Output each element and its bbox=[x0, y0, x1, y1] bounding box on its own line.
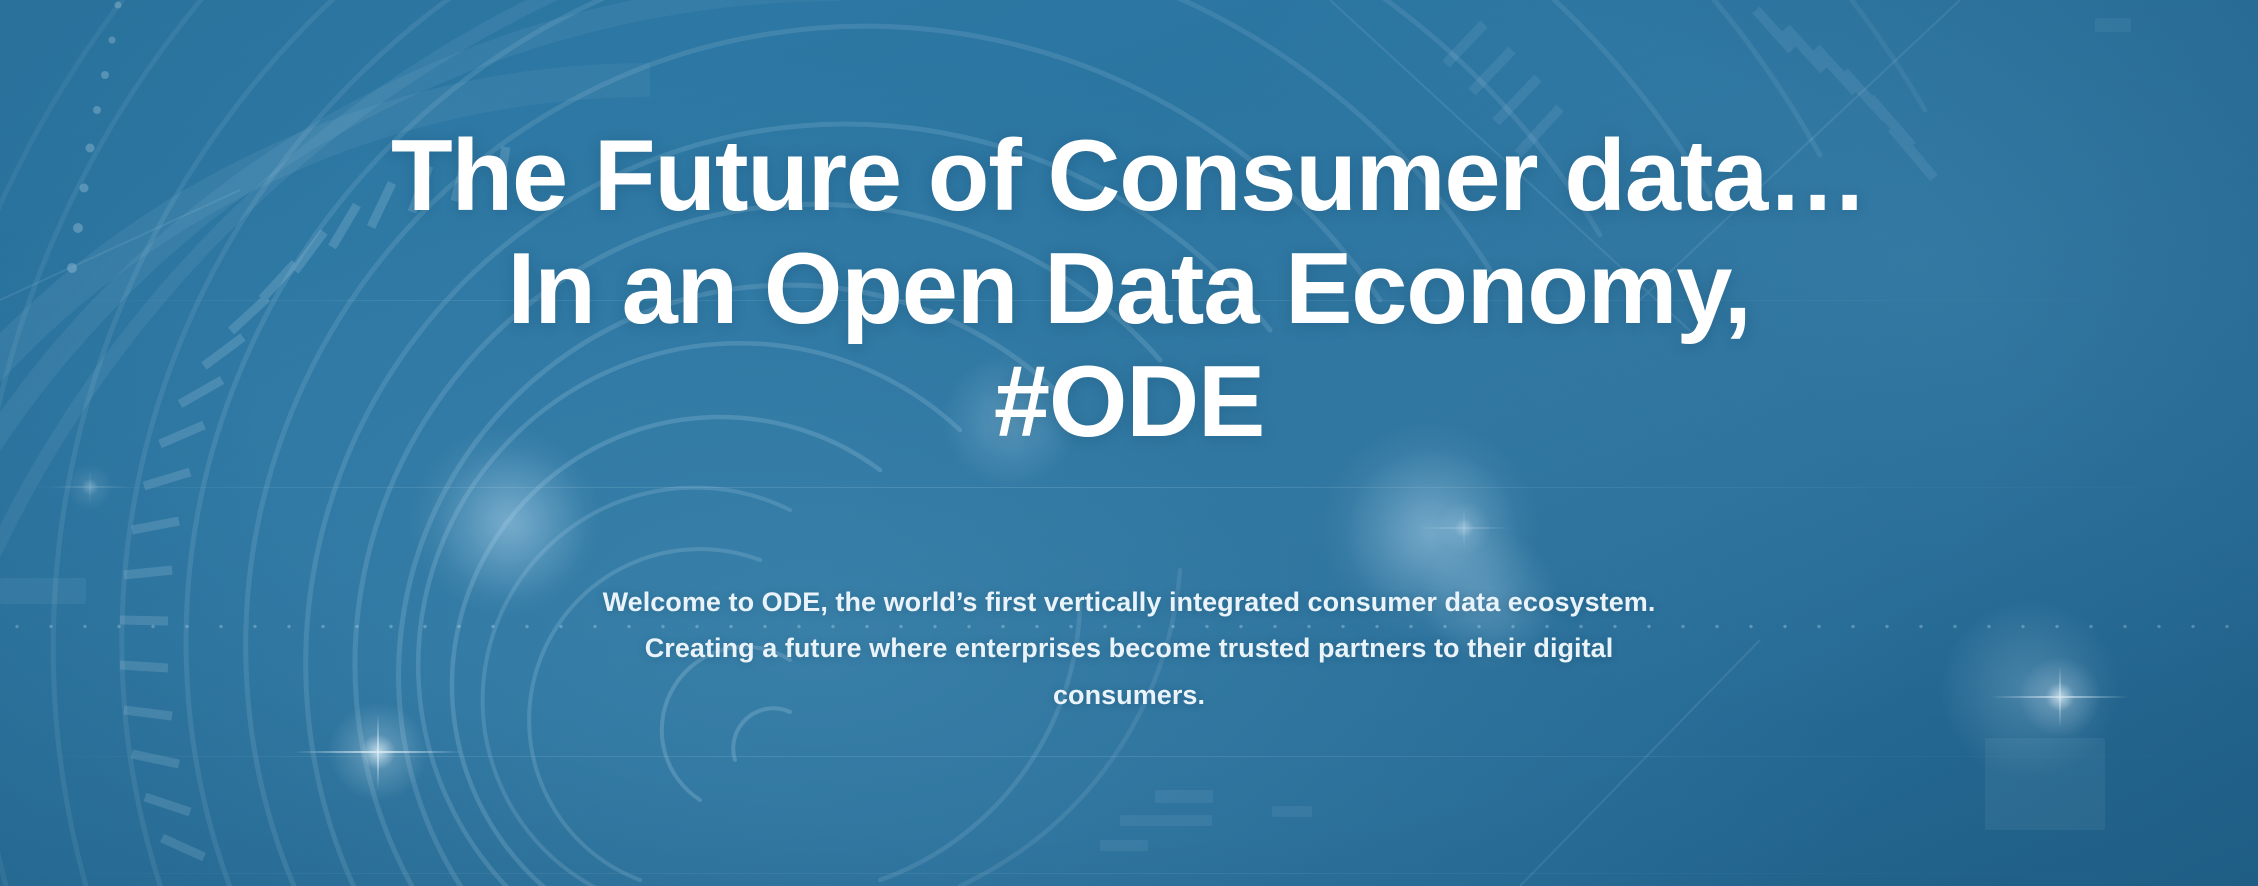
hero-content: The Future of Consumer data… In an Open … bbox=[0, 0, 2258, 886]
hero-subcopy: Welcome to ODE, the world’s first vertic… bbox=[529, 579, 1729, 718]
hero-banner: The Future of Consumer data… In an Open … bbox=[0, 0, 2258, 886]
hero-headline: The Future of Consumer data… In an Open … bbox=[29, 120, 2229, 459]
headline-line-1: The Future of Consumer data… bbox=[29, 120, 2229, 233]
subcopy-line-2: Creating a future where enterprises beco… bbox=[529, 625, 1729, 671]
headline-line-2: In an Open Data Economy, bbox=[29, 233, 2229, 346]
headline-line-3: #ODE bbox=[29, 346, 2229, 459]
subcopy-line-1: Welcome to ODE, the world’s first vertic… bbox=[529, 579, 1729, 625]
subcopy-line-3: consumers. bbox=[529, 672, 1729, 718]
